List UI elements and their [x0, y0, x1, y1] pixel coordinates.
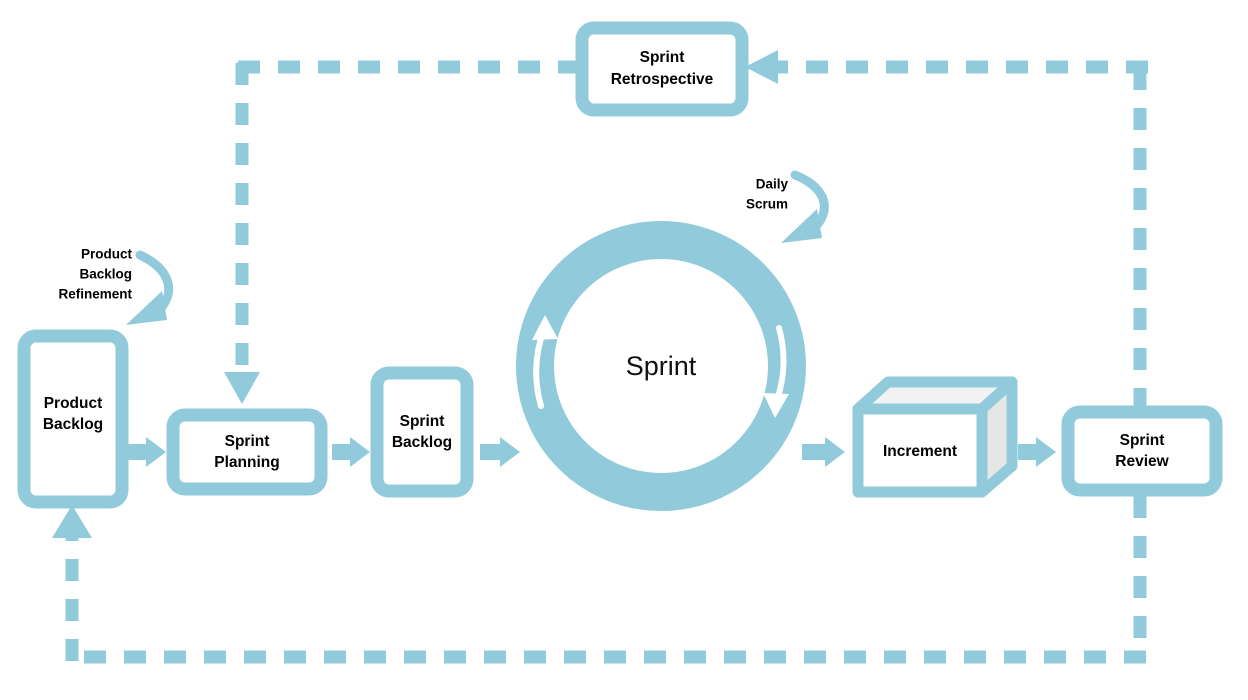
- arrow-head: [500, 437, 520, 467]
- arrowhead-into-retrospective: [745, 50, 778, 84]
- arrow-head: [350, 437, 370, 467]
- sprint-backlog-label-line1: Sprint: [400, 413, 445, 430]
- refinement-arrowhead: [126, 291, 167, 325]
- daily-scrum-arrowhead: [781, 209, 822, 243]
- node-sprint-backlog[interactable]: Sprint Backlog: [377, 373, 467, 491]
- sprint-backlog-box[interactable]: [377, 373, 467, 491]
- sprint-retrospective-label-line1: Sprint: [640, 49, 685, 66]
- product-backlog-label-line2: Backlog: [43, 416, 103, 433]
- annotation-product-backlog-refinement: Product Backlog Refinement: [58, 247, 168, 325]
- node-sprint-ring[interactable]: Sprint: [532, 240, 789, 492]
- node-product-backlog[interactable]: Product Backlog: [24, 336, 122, 502]
- node-sprint-retrospective[interactable]: Sprint Retrospective: [582, 28, 742, 110]
- arrow-head: [1036, 437, 1056, 467]
- refinement-label-line2: Backlog: [79, 267, 132, 282]
- refinement-label-line1: Product: [81, 247, 133, 262]
- sprint-planning-label-line2: Planning: [214, 454, 279, 471]
- sprint-review-label-line2: Review: [1115, 453, 1169, 470]
- sprint-planning-label-line1: Sprint: [225, 433, 270, 450]
- arrowhead-into-product-backlog: [52, 505, 92, 538]
- daily-scrum-label-line2: Scrum: [746, 197, 788, 212]
- arrow-increment-to-review: [1018, 437, 1056, 467]
- daily-scrum-label-line1: Daily: [756, 177, 789, 192]
- node-increment[interactable]: Increment: [858, 382, 1012, 492]
- product-backlog-label-line1: Product: [44, 395, 103, 412]
- sprint-retrospective-label-line2: Retrospective: [611, 71, 714, 88]
- sprint-backlog-label-line2: Backlog: [392, 434, 452, 451]
- sprint-label: Sprint: [626, 351, 697, 381]
- sprint-review-label-line1: Sprint: [1120, 432, 1165, 449]
- node-sprint-planning[interactable]: Sprint Planning: [173, 415, 321, 489]
- refinement-label-line3: Refinement: [58, 287, 132, 302]
- arrow-backlog-to-planning: [128, 437, 166, 467]
- sprint-review-box[interactable]: [1068, 412, 1216, 490]
- arrow-head: [146, 437, 166, 467]
- scrum-framework-diagram: Product Backlog Sprint Planning Sprint B…: [0, 0, 1248, 700]
- annotation-daily-scrum: Daily Scrum: [746, 175, 824, 243]
- increment-label: Increment: [883, 443, 957, 460]
- arrow-sprint-backlog-to-sprint: [480, 437, 520, 467]
- sprint-planning-box[interactable]: [173, 415, 321, 489]
- arrow-head: [825, 437, 845, 467]
- dashed-loop-review-to-product-backlog: [52, 496, 1146, 661]
- scrum-diagram-canvas: Product Backlog Sprint Planning Sprint B…: [0, 0, 1248, 700]
- node-sprint-review[interactable]: Sprint Review: [1068, 412, 1216, 490]
- arrowhead-into-sprint-planning: [224, 372, 260, 404]
- arrow-sprint-to-increment: [802, 437, 845, 467]
- sprint-retrospective-box[interactable]: [582, 28, 742, 110]
- arrow-planning-to-sprint-backlog: [332, 437, 370, 467]
- arrow-shaft: [802, 444, 828, 460]
